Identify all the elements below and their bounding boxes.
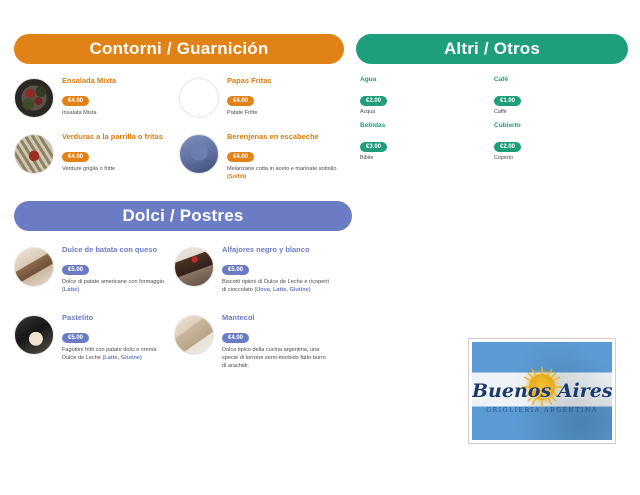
menu-item-description: Insalata Mista bbox=[62, 109, 175, 117]
menu-item-name: Cubierto bbox=[494, 122, 628, 131]
menu-item-description: Patate Fritte bbox=[227, 109, 340, 117]
menu-item-description-text: Dolce di patate americane con formaggio bbox=[62, 279, 164, 285]
menu-item-price: €4.00 bbox=[227, 152, 254, 162]
menu-item-price: €5.00 bbox=[222, 265, 249, 275]
menu-item-description: Bibite bbox=[360, 155, 494, 163]
menu-item-allergens: (Uova, Latte, Glutine) bbox=[254, 287, 310, 293]
section-altri: Altri / Otros Agua €2.00 Acqua Café €1.0… bbox=[356, 34, 628, 168]
section-dolci: Dolci / Postres Dulce de batata con ques… bbox=[14, 201, 352, 381]
menu-item-name: Dulce de batata con queso bbox=[62, 245, 170, 255]
menu-item-description: Verdure griglia o fritte bbox=[62, 165, 175, 173]
menu-item[interactable]: Verduras a la parrilla o fritas €4.00 Ve… bbox=[14, 132, 179, 190]
menu-item[interactable]: Cubierto €2.00 Coperto bbox=[494, 122, 628, 168]
section-altri-items: Agua €2.00 Acqua Café €1.00 Caffè Bebida… bbox=[356, 64, 628, 168]
eggplant-thumbnail bbox=[179, 134, 219, 174]
menu-item-description: Biscotti ripieni di Dulce de Leche e ric… bbox=[222, 278, 330, 294]
menu-item-name: Café bbox=[494, 76, 628, 85]
sweet-potato-dessert-thumbnail bbox=[14, 247, 54, 287]
menu-item-name: Verduras a la parrilla o fritas bbox=[62, 132, 175, 142]
menu-item-description: Caffè bbox=[494, 109, 628, 117]
menu-item-price: €2.00 bbox=[360, 96, 387, 106]
section-altri-header: Altri / Otros bbox=[356, 34, 628, 64]
menu-item[interactable]: Alfajores negro y blanco €5.00 Biscotti … bbox=[174, 245, 334, 313]
salad-thumbnail bbox=[14, 78, 54, 118]
fries-thumbnail bbox=[179, 78, 219, 118]
menu-item-price: €4.00 bbox=[227, 96, 254, 106]
menu-item-price: €5.00 bbox=[62, 265, 89, 275]
menu-item-name: Alfajores negro y blanco bbox=[222, 245, 330, 255]
menu-item-name: Ensalada Mixta bbox=[62, 76, 175, 86]
menu-item-name: Berenjenas en escabeche bbox=[227, 132, 340, 142]
menu-item[interactable]: Agua €2.00 Acqua bbox=[360, 76, 494, 122]
menu-item-description-text: Dolce tipico della cucina argentina, una… bbox=[222, 347, 326, 369]
menu-item-description: Fagottini fritti con patate dolci e crem… bbox=[62, 346, 170, 362]
menu-item[interactable]: Pastelito €5.00 Fagottini fritti con pat… bbox=[14, 313, 174, 381]
menu-item-name: Mantecol bbox=[222, 313, 330, 323]
menu-item[interactable]: Ensalada Mixta €4.00 Insalata Mista bbox=[14, 76, 179, 132]
menu-item-description: Dolce tipico della cucina argentina, una… bbox=[222, 346, 330, 370]
menu-item-price: €3.00 bbox=[360, 142, 387, 152]
menu-item-name: Bebidas bbox=[360, 122, 494, 131]
section-dolci-items: Dulce de batata con queso €5.00 Dolce di… bbox=[14, 231, 334, 381]
menu-item[interactable]: Bebidas €3.00 Bibite bbox=[360, 122, 494, 168]
logo-tagline: GRIGLIERIA ARGENTINA bbox=[472, 407, 612, 414]
menu-item-description-text: Insalata Mista bbox=[62, 110, 97, 116]
logo-wordmark: Buenos Aires bbox=[472, 380, 612, 402]
menu-item-description: Melanzane cotta in aceto e marinate sott… bbox=[227, 165, 340, 181]
mantecol-thumbnail bbox=[174, 315, 214, 355]
section-contorni-header: Contorni / Guarnición bbox=[14, 34, 344, 64]
menu-item-name: Agua bbox=[360, 76, 494, 85]
menu-item-description: Acqua bbox=[360, 109, 494, 117]
menu-item-price: €1.00 bbox=[494, 96, 521, 106]
menu-item[interactable]: Papas Fritas €4.00 Patate Fritte bbox=[179, 76, 344, 132]
menu-item-price: €4.00 bbox=[222, 333, 249, 343]
menu-item-allergens: (Latte, Glutine) bbox=[102, 355, 141, 361]
menu-item[interactable]: Dulce de batata con queso €5.00 Dolce di… bbox=[14, 245, 174, 313]
menu-item-description-text: Melanzane cotta in aceto e marinate sott… bbox=[227, 166, 336, 172]
menu-item-price: €5.00 bbox=[62, 333, 89, 343]
section-contorni: Contorni / Guarnición Ensalada Mixta €4.… bbox=[14, 34, 344, 190]
menu-item-allergens: (Solfiti) bbox=[227, 174, 246, 180]
menu-item[interactable]: Berenjenas en escabeche €4.00 Melanzane … bbox=[179, 132, 344, 190]
argentine-flag-background: Buenos Aires GRIGLIERIA ARGENTINA bbox=[472, 342, 612, 440]
section-contorni-items: Ensalada Mixta €4.00 Insalata Mista Papa… bbox=[14, 64, 344, 190]
menu-item-description: Coperto bbox=[494, 155, 628, 163]
menu-item-price: €4.00 bbox=[62, 152, 89, 162]
menu-item-allergens: (Latte) bbox=[62, 287, 79, 293]
menu-item-name: Papas Fritas bbox=[227, 76, 340, 86]
grilled-vegetables-thumbnail bbox=[14, 134, 54, 174]
menu-page: Contorni / Guarnición Ensalada Mixta €4.… bbox=[0, 0, 640, 495]
menu-item[interactable]: Café €1.00 Caffè bbox=[494, 76, 628, 122]
section-dolci-header: Dolci / Postres bbox=[14, 201, 352, 231]
menu-item-description-text: Verdure griglia o fritte bbox=[62, 166, 115, 172]
restaurant-logo: Buenos Aires GRIGLIERIA ARGENTINA bbox=[468, 338, 616, 444]
menu-item[interactable]: Mantecol €4.00 Dolce tipico della cucina… bbox=[174, 313, 334, 381]
menu-item-name: Pastelito bbox=[62, 313, 170, 323]
menu-item-description-text: Patate Fritte bbox=[227, 110, 257, 116]
menu-item-description: Dolce di patate americane con formaggio … bbox=[62, 278, 170, 294]
pastelito-thumbnail bbox=[14, 315, 54, 355]
menu-item-price: €4.00 bbox=[62, 96, 89, 106]
menu-item-price: €2.00 bbox=[494, 142, 521, 152]
alfajores-thumbnail bbox=[174, 247, 214, 287]
